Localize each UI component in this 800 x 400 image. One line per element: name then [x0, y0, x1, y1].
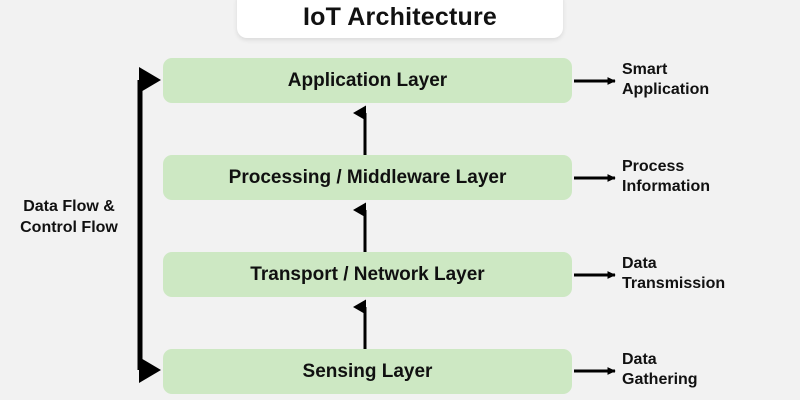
output-label-transport: Data Transmission — [622, 254, 797, 295]
diagram-canvas: IoT Architecture — [0, 0, 800, 400]
page-title: IoT Architecture — [303, 3, 497, 32]
data-flow-caption-line1: Data Flow & — [8, 196, 130, 217]
output-label-processing-line2: Information — [622, 177, 797, 197]
output-label-application-line2: Application — [622, 80, 797, 100]
output-label-application-line1: Smart — [622, 60, 797, 80]
layer-label-transport: Transport / Network Layer — [250, 264, 484, 286]
layer-label-application: Application Layer — [288, 70, 447, 92]
output-label-processing: Process Information — [622, 157, 797, 198]
output-label-sensing: Data Gathering — [622, 350, 797, 391]
layer-label-sensing: Sensing Layer — [303, 361, 433, 383]
output-label-transport-line1: Data — [622, 254, 797, 274]
data-flow-caption-line2: Control Flow — [8, 217, 130, 238]
layer-label-processing: Processing / Middleware Layer — [229, 167, 507, 189]
layer-box-sensing[interactable]: Sensing Layer — [163, 349, 572, 394]
layer-box-application[interactable]: Application Layer — [163, 58, 572, 103]
output-label-processing-line1: Process — [622, 157, 797, 177]
diagram-title-card: IoT Architecture — [237, 0, 563, 38]
output-label-sensing-line2: Gathering — [622, 370, 797, 390]
output-label-sensing-line1: Data — [622, 350, 797, 370]
output-label-transport-line2: Transmission — [622, 274, 797, 294]
data-flow-caption: Data Flow & Control Flow — [8, 196, 130, 238]
layer-box-transport[interactable]: Transport / Network Layer — [163, 252, 572, 297]
layer-box-processing[interactable]: Processing / Middleware Layer — [163, 155, 572, 200]
output-label-application: Smart Application — [622, 60, 797, 101]
